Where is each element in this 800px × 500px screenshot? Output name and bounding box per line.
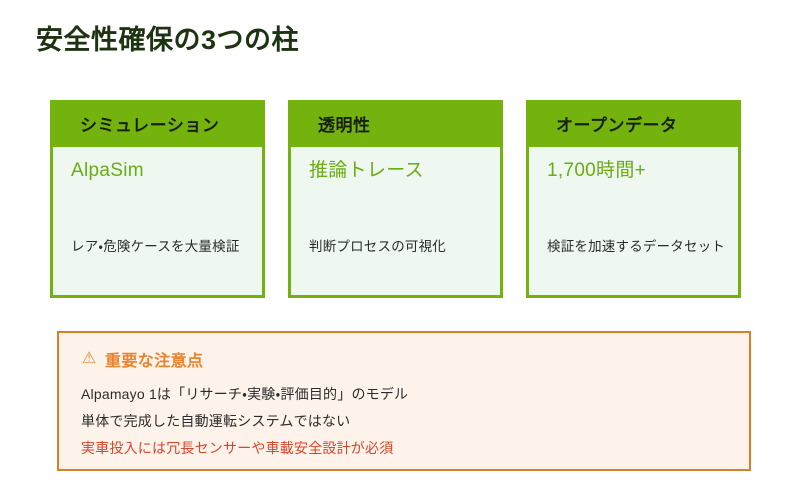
pillar-card-metric: 1,700時間+ [547,159,738,183]
warning-line: 単体で完成した自動運転システムではない [81,408,749,435]
pillar-card-simulation: シミュレーション AlpaSim レア・危険ケースを大量検証 [50,100,265,298]
pillar-card-description: レア・危険ケースを大量検証 [71,235,240,255]
slide-canvas: 安全性確保の3つの柱 シミュレーション AlpaSim レア・危険ケースを大量検… [0,0,800,500]
pillar-card-open-data: オープンデータ 1,700時間+ 検証を加速するデータセット [526,100,741,298]
pillar-card-description: 検証を加速するデータセット [547,235,725,255]
warning-title: 重要な注意点 [105,347,203,371]
pillar-card-metric: AlpaSim [71,159,262,183]
pillar-card-transparency: 透明性 推論トレース 判断プロセスの可視化 [288,100,503,298]
warning-box: ⚠ 重要な注意点 Alpamayo 1は「リサーチ・実験・評価目的」のモデル 単… [57,331,751,471]
pillar-card-body: AlpaSim レア・危険ケースを大量検証 [53,147,262,295]
pillar-card-body: 推論トレース 判断プロセスの可視化 [291,147,500,295]
pillar-card-header: シミュレーション [50,100,265,147]
pillar-card-header: 透明性 [288,100,503,147]
warning-line: Alpamayo 1は「リサーチ・実験・評価目的」のモデル [81,381,749,408]
pillar-card-description: 判断プロセスの可視化 [309,235,446,255]
pillar-card-body: 1,700時間+ 検証を加速するデータセット [529,147,738,295]
pillar-card-header: オープンデータ [526,100,741,147]
page-title: 安全性確保の3つの柱 [36,18,299,57]
warning-line-accent: 実車投入には冗長センサーや車載安全設計が必須 [81,435,749,462]
pillar-card-metric: 推論トレース [309,159,500,183]
warning-triangle-icon: ⚠ [81,351,97,367]
warning-title-row: ⚠ 重要な注意点 [81,347,749,371]
